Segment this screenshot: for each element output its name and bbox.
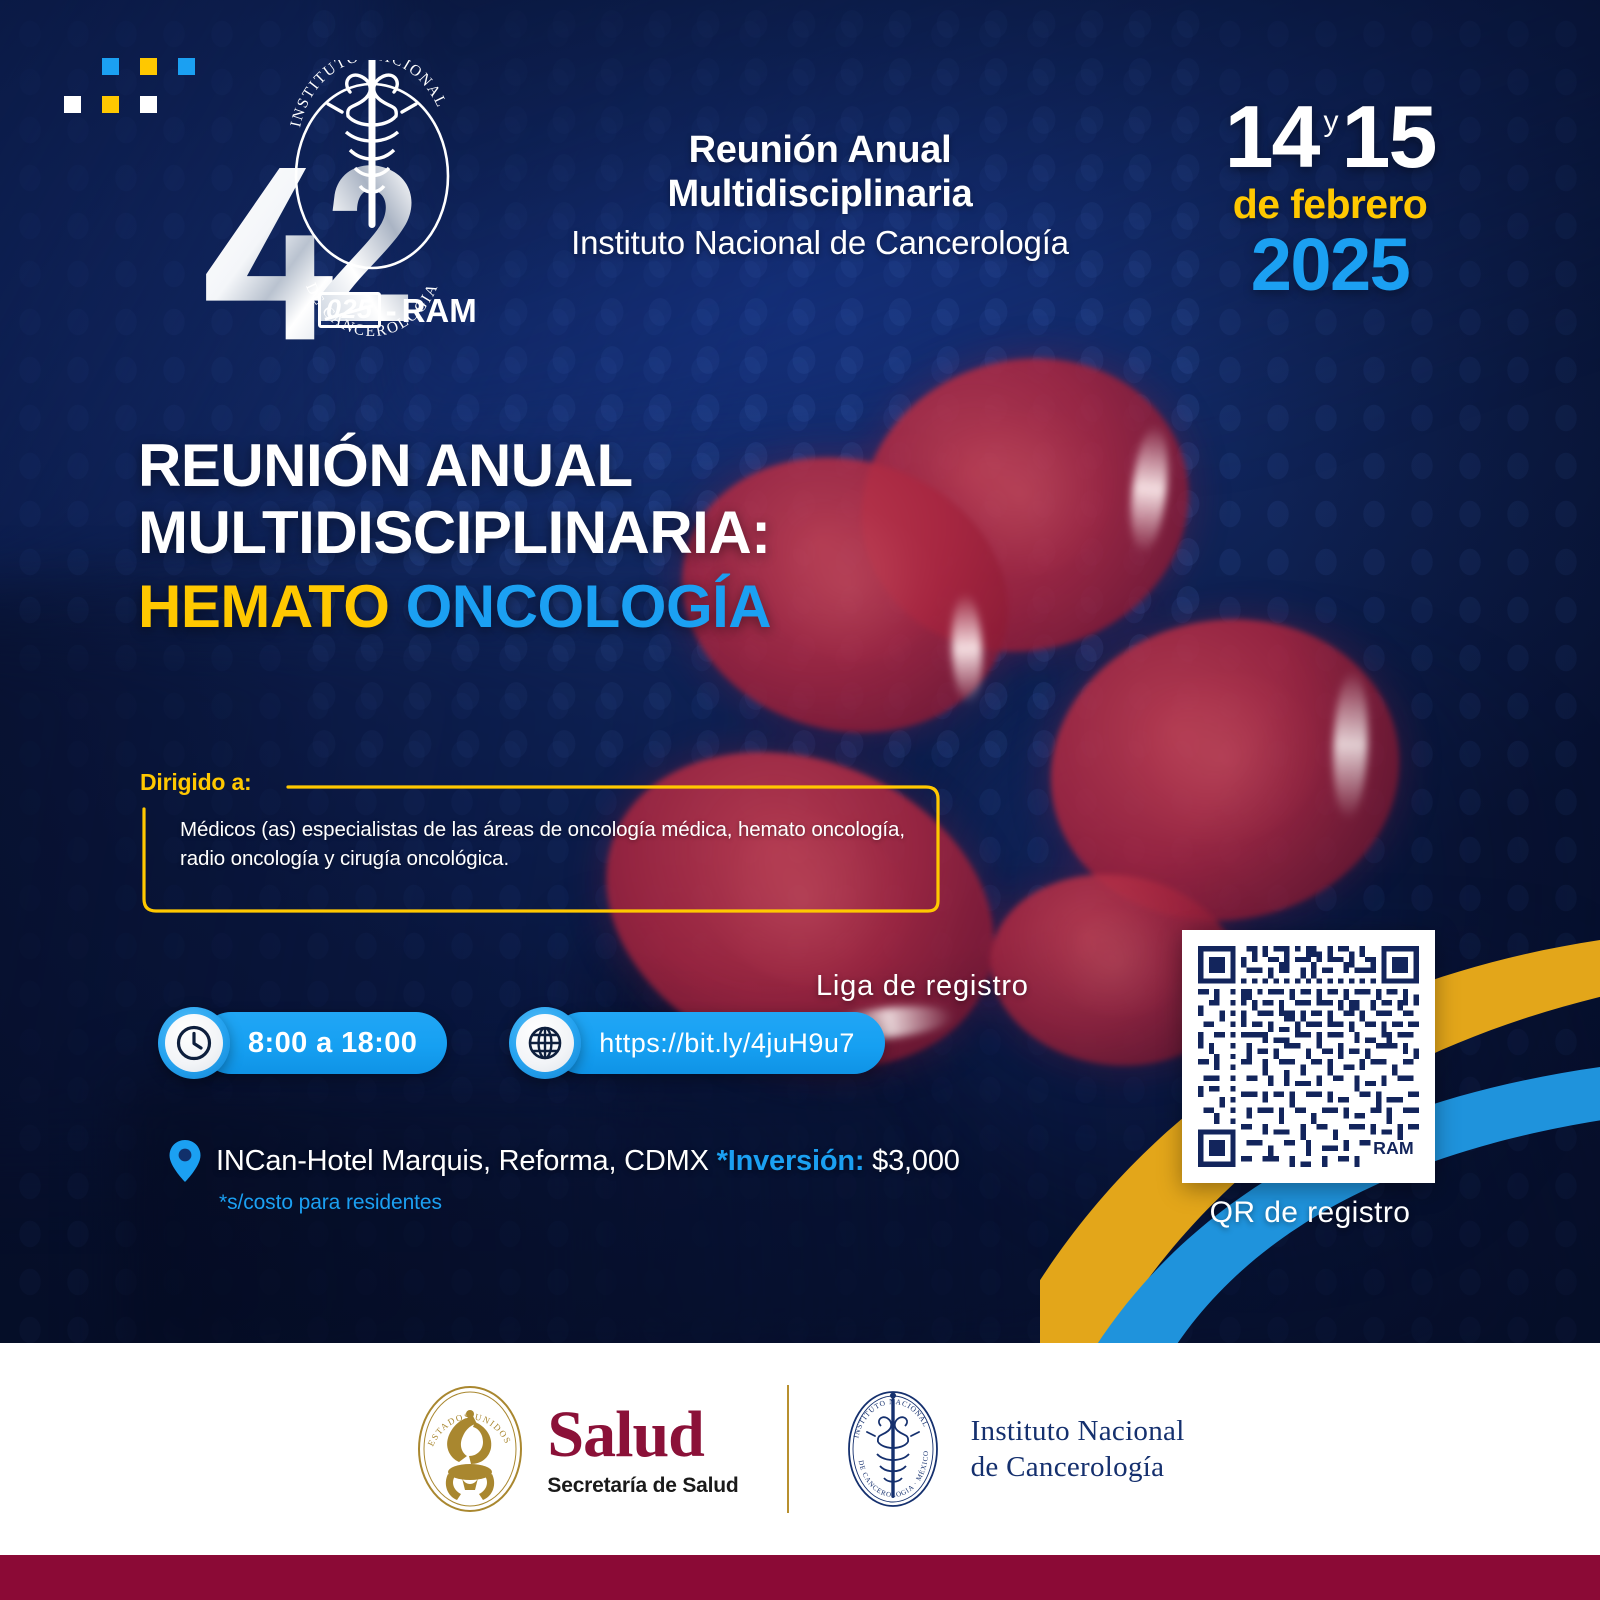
logo-dash: -	[386, 294, 397, 327]
mexico-seal-icon: ESTADOS UNIDOS MEXICANOS	[415, 1382, 525, 1517]
event-day-conjunction: y	[1324, 107, 1337, 137]
qr-code-image[interactable]: RAM	[1198, 946, 1419, 1167]
qr-code-card[interactable]: RAM	[1182, 930, 1435, 1183]
salud-title: Salud	[547, 1402, 738, 1468]
qr-label: QR de registro	[1140, 1198, 1480, 1228]
footer: ESTADOS UNIDOS MEXICANOS Salud Secretarí…	[0, 1343, 1600, 1555]
globe-icon	[525, 1023, 565, 1063]
logo-edition-tag: 025	[318, 292, 381, 328]
audience-label: Dirigido a:	[140, 771, 262, 794]
anniversary-logo: INSTITUTO NACIONAL DE CANCEROLOGIA	[196, 60, 526, 340]
square-yellow-2	[102, 96, 119, 113]
map-pin-icon	[168, 1138, 202, 1184]
price-label: *Inversión:	[717, 1145, 865, 1177]
title-line-1: REUNIÓN ANUAL	[138, 432, 1038, 499]
event-days: 14 y 15	[1170, 95, 1490, 179]
header-line-2: Multidisciplinaria	[520, 172, 1120, 216]
event-date-block: 14 y 15 de febrero 2025	[1170, 95, 1490, 302]
event-year: 2025	[1170, 228, 1490, 302]
registration-pill-body[interactable]: https://bit.ly/4juH9u7	[551, 1012, 885, 1074]
logo-ram-tag: 025 - RAM	[318, 292, 477, 328]
incan-wordmark: Instituto Nacional de Cancerología	[971, 1415, 1185, 1484]
schedule-pill-body: 8:00 a 18:00	[200, 1012, 447, 1074]
schedule-badge	[158, 1007, 230, 1079]
price-value: $3,000	[872, 1145, 960, 1177]
venue-text-row: INCan-Hotel Marquis, Reforma, CDMX *Inve…	[216, 1147, 960, 1176]
event-poster: INSTITUTO NACIONAL DE CANCEROLOGIA	[0, 0, 1600, 1600]
event-month: de febrero	[1170, 183, 1490, 226]
salud-logo: ESTADOS UNIDOS MEXICANOS Salud Secretarí…	[415, 1382, 738, 1517]
audience-box: Dirigido a: Médicos (as) especialistas d…	[140, 775, 940, 910]
price-note: *s/costo para residentes	[219, 1192, 442, 1213]
square-white-1	[64, 96, 81, 113]
square-yellow-1	[140, 58, 157, 75]
schedule-value: 8:00 a 18:00	[248, 1029, 417, 1058]
venue-line: INCan-Hotel Marquis, Reforma, CDMX *Inve…	[168, 1138, 960, 1184]
footer-divider	[787, 1385, 789, 1513]
title-line-2: MULTIDISCIPLINARIA:	[138, 499, 1038, 566]
audience-text: Médicos (as) especialistas de las áreas …	[180, 815, 910, 873]
info-pill-row: 8:00 a 18:00 https://bit.ly/4juH9u7	[158, 1012, 885, 1074]
salud-subtitle: Secretaría de Salud	[547, 1475, 738, 1496]
clock-icon	[174, 1023, 214, 1063]
registration-url[interactable]: https://bit.ly/4juH9u7	[599, 1030, 855, 1057]
incan-line-1: Instituto Nacional	[971, 1415, 1185, 1447]
incan-seal-icon: INSTITUTO NACIONAL DE CANCEROLOGIA · MÉX…	[837, 1382, 949, 1517]
header-text-block: Reunión Anual Multidisciplinaria Institu…	[520, 128, 1120, 263]
registration-pill[interactable]: https://bit.ly/4juH9u7	[509, 1012, 885, 1074]
header-institution: Instituto Nacional de Cancerología	[520, 223, 1120, 263]
venue-name: INCan-Hotel Marquis, Reforma, CDMX	[216, 1145, 709, 1177]
event-day-1: 14	[1225, 95, 1319, 179]
logo-acronym: RAM	[402, 294, 477, 327]
title-oncologia: ONCOLOGÍA	[406, 573, 772, 640]
square-white-2	[140, 96, 157, 113]
square-blue-2	[178, 58, 195, 75]
title-hemato: HEMATO	[138, 573, 389, 640]
title-line-3: HEMATO ONCOLOGÍA	[138, 573, 1038, 640]
svg-text:RAM: RAM	[1373, 1138, 1413, 1158]
incan-line-2: de Cancerología	[971, 1451, 1185, 1483]
registration-label: Liga de registro	[816, 972, 1029, 1001]
salud-wordmark: Salud Secretaría de Salud	[547, 1402, 738, 1496]
schedule-pill: 8:00 a 18:00	[158, 1012, 447, 1074]
incan-logo: INSTITUTO NACIONAL DE CANCEROLOGIA · MÉX…	[837, 1382, 1185, 1517]
header-line-1: Reunión Anual	[520, 128, 1120, 172]
square-blue-1	[102, 58, 119, 75]
event-day-2: 15	[1342, 95, 1436, 179]
main-title: REUNIÓN ANUAL MULTIDISCIPLINARIA: HEMATO…	[138, 432, 1038, 641]
bottom-accent-bar	[0, 1555, 1600, 1600]
decorative-square-grid	[58, 50, 218, 110]
registration-badge	[509, 1007, 581, 1079]
